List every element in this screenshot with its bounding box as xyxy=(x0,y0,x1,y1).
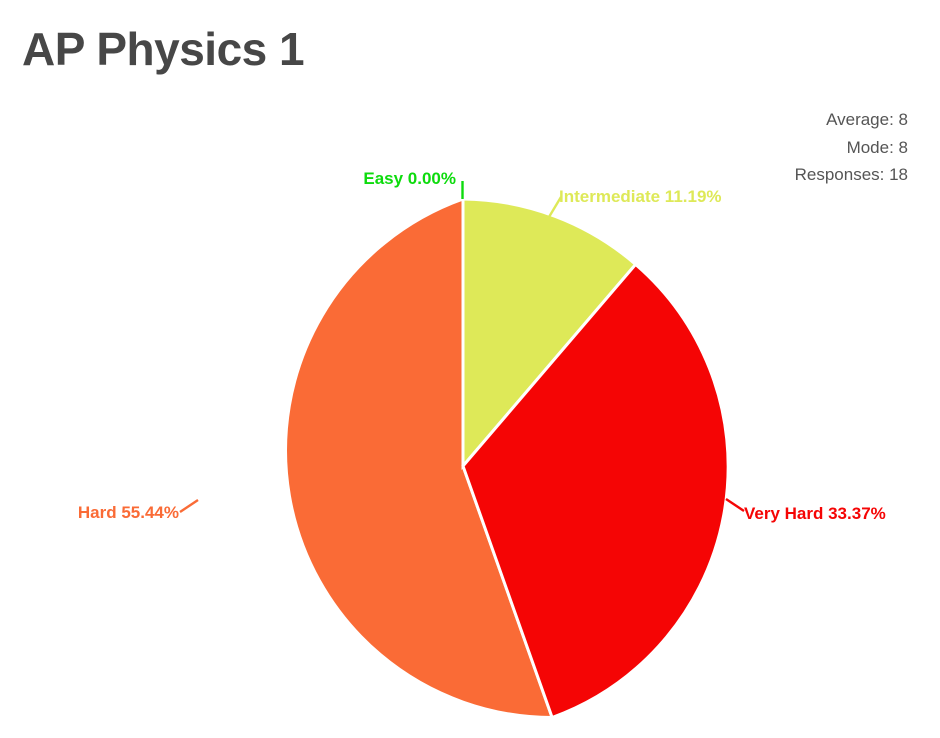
pie-label-hard: Hard 55.44% xyxy=(78,503,179,522)
leader-line-hard xyxy=(180,500,198,512)
leader-line-very-hard xyxy=(726,499,744,511)
pie-label-intermediate: Intermediate 11.19% xyxy=(559,187,722,206)
pie-chart-container: AP Physics 1 Average: 8 Mode: 8 Response… xyxy=(0,0,940,738)
pie-label-easy: Easy 0.00% xyxy=(363,169,456,188)
pie-svg: Easy 0.00% Intermediate 11.19% Very Hard… xyxy=(0,0,940,738)
pie-label-very-hard: Very Hard 33.37% xyxy=(744,504,886,523)
